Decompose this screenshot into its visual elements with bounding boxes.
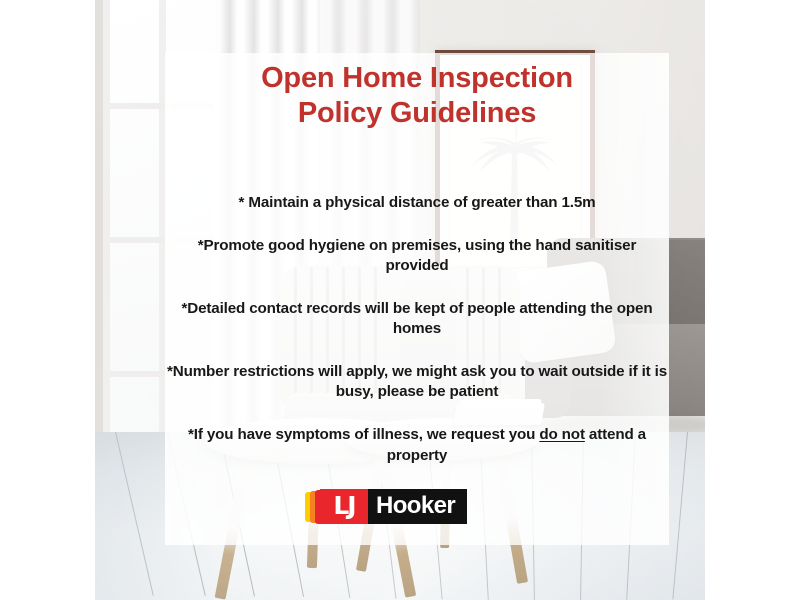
list-item: *If you have symptoms of illness, we req…	[165, 425, 669, 465]
list-item-text-pre: *If you have symptoms of illness, we req…	[188, 426, 539, 443]
lj-hooker-logo: LJ Hooker	[305, 489, 467, 524]
poster-content: Open Home Inspection Policy Guidelines *…	[165, 53, 669, 545]
list-item-emphasis: do not	[539, 426, 585, 443]
list-item: *Detailed contact records will be kept o…	[165, 299, 669, 339]
list-item: *Promote good hygiene on premises, using…	[165, 236, 669, 276]
list-item: * Maintain a physical distance of greate…	[165, 193, 669, 213]
page-title: Open Home Inspection Policy Guidelines	[165, 61, 669, 132]
title-line-2: Policy Guidelines	[165, 96, 669, 131]
logo-monogram: LJ	[320, 489, 368, 524]
letterbox-bar-left	[0, 0, 95, 600]
title-line-1: Open Home Inspection	[165, 61, 669, 96]
guideline-list: * Maintain a physical distance of greate…	[165, 193, 669, 489]
poster-canvas: Open Home Inspection Policy Guidelines *…	[0, 0, 800, 600]
letterbox-bar-right	[705, 0, 800, 600]
list-item: *Number restrictions will apply, we migh…	[165, 362, 669, 402]
logo-wordmark: Hooker	[368, 489, 467, 524]
